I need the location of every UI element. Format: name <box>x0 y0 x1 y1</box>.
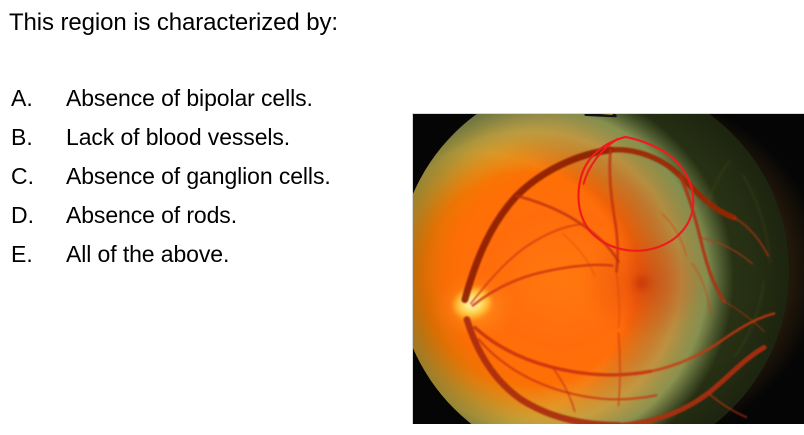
choice-letter-e: E. <box>11 239 51 269</box>
choice-text-c: Absence of ganglion cells. <box>66 161 331 191</box>
choice-text-a: Absence of bipolar cells. <box>66 83 313 113</box>
choice-option-a[interactable]: A. Absence of bipolar cells. <box>0 83 412 122</box>
retinal-fundus-image <box>412 113 804 424</box>
choice-option-b[interactable]: B. Lack of blood vessels. <box>0 122 412 161</box>
choice-letter-a: A. <box>11 83 51 113</box>
fundus-photo-canvas <box>413 114 804 424</box>
photo-bottom-margin <box>412 424 804 435</box>
choice-option-c[interactable]: C. Absence of ganglion cells. <box>0 161 412 200</box>
choice-letter-d: D. <box>11 200 51 230</box>
choice-option-d[interactable]: D. Absence of rods. <box>0 200 412 239</box>
choice-option-e[interactable]: E. All of the above. <box>0 239 412 278</box>
question-stem: This region is characterized by: <box>9 9 338 37</box>
choice-list: A. Absence of bipolar cells. B. Lack of … <box>0 83 412 278</box>
slide-content: This region is characterized by: A. Abse… <box>0 0 412 435</box>
fovea <box>631 274 653 292</box>
choice-letter-b: B. <box>11 122 51 152</box>
choice-text-e: All of the above. <box>66 239 229 269</box>
choice-letter-c: C. <box>11 161 51 191</box>
choice-text-b: Lack of blood vessels. <box>66 122 290 152</box>
choice-text-d: Absence of rods. <box>66 200 237 230</box>
